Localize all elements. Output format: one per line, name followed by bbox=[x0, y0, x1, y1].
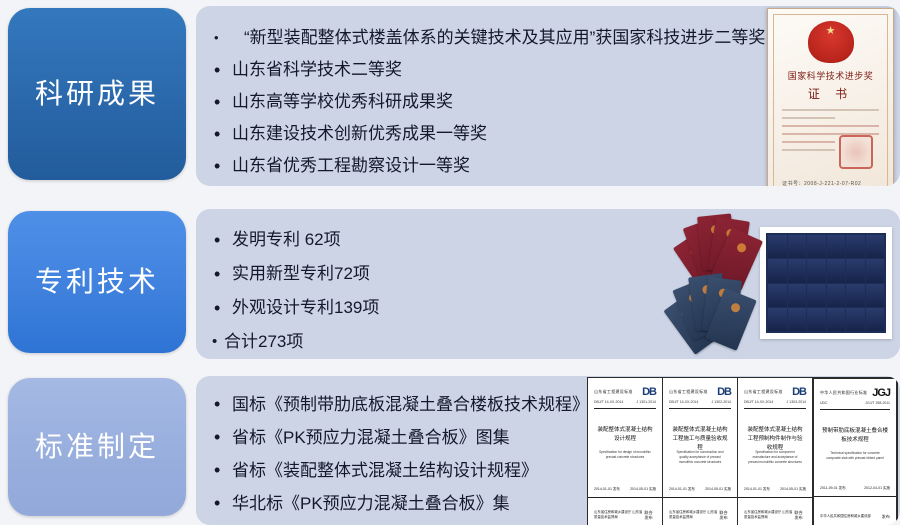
slide-canvas: “新型装配整体式楼盖体系的关键技术及其应用”获国家科技进步二等奖 山东省科学技术… bbox=[0, 0, 900, 525]
standard-issuer: 山东省住房和城乡建设厅 山东省质量技术监督局 bbox=[744, 510, 794, 520]
certificate-subtitle: 证 书 bbox=[768, 85, 893, 102]
standard-effective-date: 2014-05-01 实施 bbox=[705, 487, 731, 492]
list-item: 合计273项 bbox=[212, 325, 379, 359]
db-logo-icon: DB bbox=[642, 386, 656, 398]
section-label-patent-technology[interactable]: 专利技术 bbox=[8, 211, 186, 353]
standard-org: 中华人民共和国行业标准 bbox=[820, 390, 867, 396]
standard-code-right: J 1301-2014 bbox=[637, 400, 656, 404]
patent-booklets-image bbox=[642, 215, 892, 359]
list-item: “新型装配整体式楼盖体系的关键技术及其应用”获国家科技进步二等奖 bbox=[212, 22, 765, 54]
section-label-research-results[interactable]: 科研成果 bbox=[8, 8, 186, 180]
list-item: 发明专利 62项 bbox=[212, 223, 379, 257]
db-logo-icon: DB bbox=[717, 386, 731, 398]
section-row-research-results: “新型装配整体式楼盖体系的关键技术及其应用”获国家科技进步二等奖 山东省科学技术… bbox=[0, 2, 900, 192]
certificate-number: 证书号：2008-J-221-2-07-R02 bbox=[782, 180, 861, 186]
standard-code-left: DBJ/T 14-XX-2014 bbox=[744, 400, 773, 404]
national-emblem-icon bbox=[808, 21, 854, 63]
standard-publisher: 发布 bbox=[882, 514, 890, 519]
patent-grid-card bbox=[760, 227, 892, 339]
content-panel-patents: 发明专利 62项 实用新型专利72项 外观设计专利139项 合计273项 bbox=[196, 209, 900, 359]
list-item: 山东省科学技术二等奖 bbox=[212, 54, 765, 86]
list-item: 外观设计专利139项 bbox=[212, 291, 379, 325]
standard-publisher: 联合发布 bbox=[719, 510, 731, 520]
section-label-standard-setting[interactable]: 标准制定 bbox=[8, 378, 186, 516]
standard-issue-date: 2014-01-01 发布 bbox=[669, 487, 695, 492]
standard-title-english: Specification for design of monolithic p… bbox=[598, 450, 652, 460]
standard-title-english: Specification for component manufacture … bbox=[748, 450, 802, 465]
list-item: 国标《预制带肋底板混凝土叠合楼板技术规程》 bbox=[212, 388, 589, 421]
standard-code-left: DBJ/T 14-XX-2014 bbox=[669, 400, 698, 404]
standard-effective-date: 2012-04-01 实施 bbox=[864, 486, 890, 491]
standard-publisher: 联合发布 bbox=[644, 510, 656, 520]
standard-issuer: 山东省住房和城乡建设厅 山东省质量技术监督局 bbox=[594, 510, 644, 520]
standard-document-cover: 山东省工程建设标准 DB DBJ/T 14-XX-2014 J 1302-201… bbox=[662, 377, 738, 525]
bullet-list-research: “新型装配整体式楼盖体系的关键技术及其应用”获国家科技进步二等奖 山东省科学技术… bbox=[212, 22, 765, 182]
standard-title: 装配整体式混凝土结构工程施工与质量验收规程 bbox=[671, 426, 729, 453]
standard-document-cover: 山东省工程建设标准 DB DBJ/T 14-XX-2014 J 1303-201… bbox=[737, 377, 813, 525]
section-label-text: 科研成果 bbox=[35, 80, 159, 108]
section-label-text: 标准制定 bbox=[35, 433, 159, 461]
list-item: 省标《装配整体式混凝土结构设计规程》 bbox=[212, 454, 589, 487]
standard-issue-date: 2011-09-01 发布 bbox=[820, 486, 846, 491]
standard-title: 预制带肋底板混凝土叠合楼板技术规程 bbox=[822, 427, 888, 445]
standard-code-left: UDC bbox=[820, 401, 828, 405]
standard-document-cover: 中华人民共和国行业标准 JGJ UDC JGJ/T 258-2011 预制带肋底… bbox=[812, 377, 898, 525]
list-item: 省标《PK预应力混凝土叠合板》图集 bbox=[212, 421, 589, 454]
standard-code-right: JGJ/T 258-2011 bbox=[865, 401, 890, 405]
red-seal-icon bbox=[839, 135, 873, 169]
award-certificate-image: 国家科学技术进步奖 证 书 证书号：2008-J-221-2-07-R02 bbox=[767, 8, 894, 186]
standard-title-english: Specification for construction and quali… bbox=[673, 450, 727, 465]
bullet-list-standards: 国标《预制带肋底板混凝土叠合楼板技术规程》 省标《PK预应力混凝土叠合板》图集 … bbox=[212, 388, 589, 520]
certificate-title: 国家科学技术进步奖 bbox=[768, 69, 893, 82]
bullet-list-patents: 发明专利 62项 实用新型专利72项 外观设计专利139项 合计273项 bbox=[212, 223, 379, 359]
section-row-standard-setting: 国标《预制带肋底板混凝土叠合楼板技术规程》 省标《PK预应力混凝土叠合板》图集 … bbox=[0, 372, 900, 525]
standard-org: 山东省工程建设标准 bbox=[594, 389, 633, 395]
standard-issue-date: 2014-01-01 发布 bbox=[594, 487, 620, 492]
standard-issue-date: 2014-01-01 发布 bbox=[744, 487, 770, 492]
content-panel-standards: 国标《预制带肋底板混凝土叠合楼板技术规程》 省标《PK预应力混凝土叠合板》图集 … bbox=[196, 376, 900, 525]
standard-title-english: Technical specification for concrete com… bbox=[824, 451, 886, 461]
standard-org: 山东省工程建设标准 bbox=[744, 389, 783, 395]
standard-issuer: 山东省住房和城乡建设厅 山东省质量技术监督局 bbox=[669, 510, 719, 520]
list-item: 山东建设技术创新优秀成果一等奖 bbox=[212, 118, 765, 150]
standard-code-left: DBJ/T 14-XX-2014 bbox=[594, 400, 623, 404]
jgj-logo-icon: JGJ bbox=[872, 387, 890, 399]
standard-documents-image: 山东省工程建设标准 DB DBJ/T 14-XX-2014 J 1301-201… bbox=[588, 377, 898, 525]
standard-publisher: 联合发布 bbox=[794, 510, 806, 520]
db-logo-icon: DB bbox=[792, 386, 806, 398]
list-item: 山东省优秀工程勘察设计一等奖 bbox=[212, 150, 765, 182]
standard-title: 装配整体式混凝土结构工程预制构件制作与验收规程 bbox=[746, 426, 804, 453]
standard-effective-date: 2014-05-01 实施 bbox=[780, 487, 806, 492]
standard-title: 装配整体式混凝土结构设计规程 bbox=[596, 426, 654, 444]
standard-org: 山东省工程建设标准 bbox=[669, 389, 708, 395]
standard-issuer: 中华人民共和国住房和城乡建设部 bbox=[820, 514, 871, 519]
standard-effective-date: 2014-05-01 实施 bbox=[630, 487, 656, 492]
list-item: 山东高等学校优秀科研成果奖 bbox=[212, 86, 765, 118]
section-row-patent-technology: 发明专利 62项 实用新型专利72项 外观设计专利139项 合计273项 bbox=[0, 205, 900, 365]
list-item: 实用新型专利72项 bbox=[212, 257, 379, 291]
standard-code-right: J 1303-2014 bbox=[787, 400, 806, 404]
patent-certificate-grid bbox=[766, 233, 886, 333]
standard-code-right: J 1302-2014 bbox=[712, 400, 731, 404]
list-item: 华北标《PK预应力混凝土叠合板》集 bbox=[212, 487, 589, 520]
section-label-text: 专利技术 bbox=[35, 268, 159, 296]
standard-document-cover: 山东省工程建设标准 DB DBJ/T 14-XX-2014 J 1301-201… bbox=[587, 377, 663, 525]
content-panel-research: “新型装配整体式楼盖体系的关键技术及其应用”获国家科技进步二等奖 山东省科学技术… bbox=[196, 6, 900, 186]
